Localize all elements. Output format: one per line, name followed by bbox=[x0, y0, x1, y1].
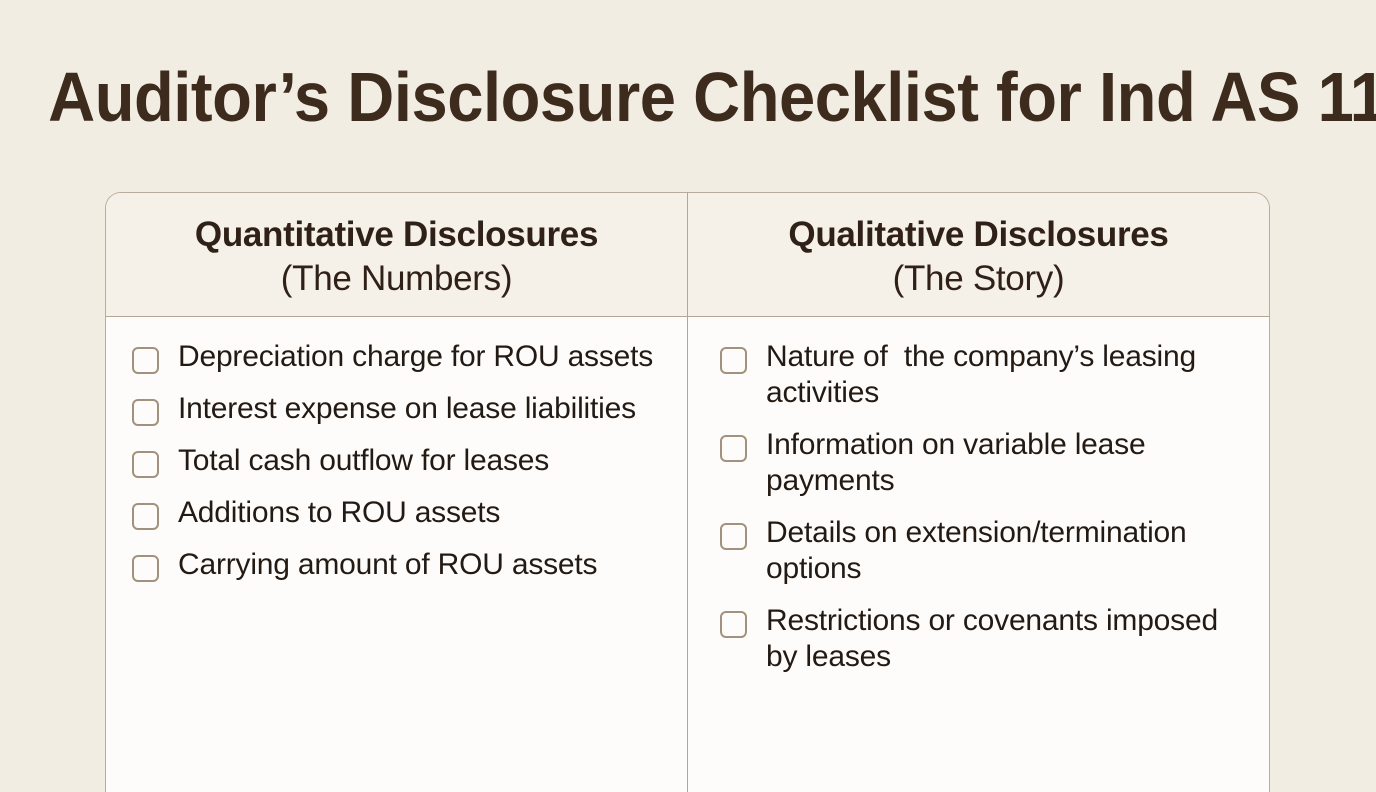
list-item[interactable]: Information on variable lease payments bbox=[720, 427, 1249, 499]
list-item[interactable]: Total cash outflow for leases bbox=[132, 443, 661, 479]
checklist-quantitative: Depreciation charge for ROU assets Inter… bbox=[106, 317, 687, 792]
list-item-label: Nature of the company’s leasing activiti… bbox=[766, 339, 1249, 411]
list-item[interactable]: Nature of the company’s leasing activiti… bbox=[720, 339, 1249, 411]
checkbox-icon[interactable] bbox=[132, 399, 159, 426]
checkbox-icon[interactable] bbox=[132, 503, 159, 530]
list-item-label: Depreciation charge for ROU assets bbox=[178, 339, 653, 375]
checkbox-icon[interactable] bbox=[132, 555, 159, 582]
checklist-columns: Quantitative Disclosures (The Numbers) D… bbox=[106, 193, 1269, 792]
checkbox-icon[interactable] bbox=[132, 347, 159, 374]
checkbox-icon[interactable] bbox=[720, 523, 747, 550]
list-item[interactable]: Carrying amount of ROU assets bbox=[132, 547, 661, 583]
checklist-qualitative: Nature of the company’s leasing activiti… bbox=[688, 317, 1269, 792]
list-item-label: Information on variable lease payments bbox=[766, 427, 1249, 499]
list-item-label: Carrying amount of ROU assets bbox=[178, 547, 597, 583]
list-item-label: Details on extension/termination options bbox=[766, 515, 1249, 587]
column-header-subtitle: (The Story) bbox=[893, 257, 1065, 301]
page-title: Auditor’s Disclosure Checklist for Ind A… bbox=[48, 54, 1328, 140]
list-item-label: Restrictions or covenants imposed by lea… bbox=[766, 603, 1249, 675]
column-header-quantitative: Quantitative Disclosures (The Numbers) bbox=[106, 193, 687, 317]
column-header-subtitle: (The Numbers) bbox=[281, 257, 512, 301]
checkbox-icon[interactable] bbox=[720, 435, 747, 462]
list-item-label: Interest expense on lease liabilities bbox=[178, 391, 636, 427]
list-item[interactable]: Depreciation charge for ROU assets bbox=[132, 339, 661, 375]
list-item[interactable]: Additions to ROU assets bbox=[132, 495, 661, 531]
checkbox-icon[interactable] bbox=[132, 451, 159, 478]
column-header-title: Qualitative Disclosures bbox=[788, 213, 1168, 257]
checklist-page: Auditor’s Disclosure Checklist for Ind A… bbox=[0, 0, 1376, 768]
list-item[interactable]: Interest expense on lease liabilities bbox=[132, 391, 661, 427]
column-header-qualitative: Qualitative Disclosures (The Story) bbox=[688, 193, 1269, 317]
checkbox-icon[interactable] bbox=[720, 347, 747, 374]
checklist-card: Quantitative Disclosures (The Numbers) D… bbox=[105, 192, 1270, 792]
list-item-label: Total cash outflow for leases bbox=[178, 443, 549, 479]
list-item-label: Additions to ROU assets bbox=[178, 495, 500, 531]
list-item[interactable]: Details on extension/termination options bbox=[720, 515, 1249, 587]
list-item[interactable]: Restrictions or covenants imposed by lea… bbox=[720, 603, 1249, 675]
column-quantitative: Quantitative Disclosures (The Numbers) D… bbox=[106, 193, 688, 792]
checkbox-icon[interactable] bbox=[720, 611, 747, 638]
column-qualitative: Qualitative Disclosures (The Story) Natu… bbox=[688, 193, 1269, 792]
column-header-title: Quantitative Disclosures bbox=[195, 213, 598, 257]
